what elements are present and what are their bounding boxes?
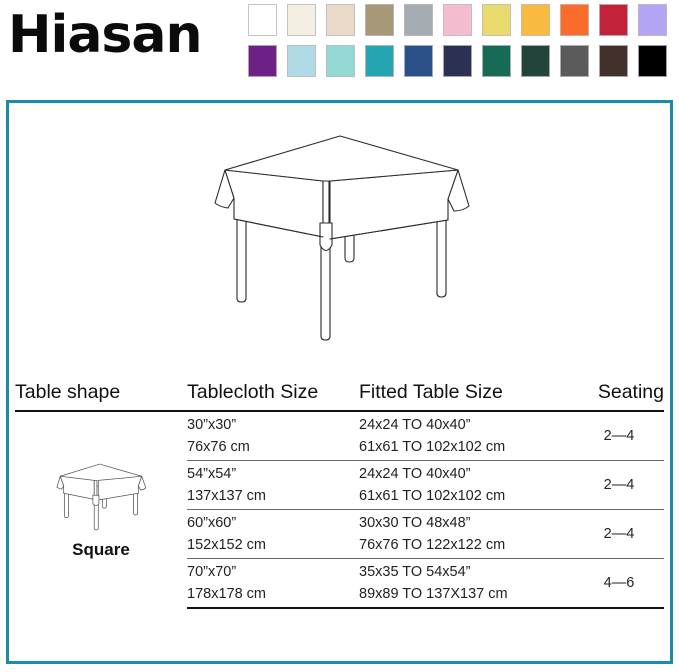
swatch-row-1 [248,4,672,36]
fitted-size-inches: 24x24 TO 40x40” [359,463,574,485]
swatch-ivory[interactable] [287,4,316,36]
table-row: Square30”x30”76x76 cm24x24 TO 40x40”61x6… [15,411,664,461]
swatch-orange[interactable] [560,4,589,36]
tablecloth-size-cell: 70”x70”178x178 cm [187,559,359,609]
tablecloth-size-cm: 137x137 cm [187,485,359,507]
swatch-royal-blue[interactable] [404,45,433,77]
tablecloth-size-cell: 60”x60”152x152 cm [187,510,359,559]
swatch-black[interactable] [638,45,667,77]
tablecloth-size-inches: 60”x60” [187,512,359,534]
swatch-lavender[interactable] [638,4,667,36]
seating-cell: 4—6 [574,559,664,609]
fitted-size-cm: 89x89 TO 137X137 cm [359,583,574,605]
swatch-pink[interactable] [443,4,472,36]
header-seating: Seating [574,381,664,411]
size-spec-table: Table shape Tablecloth Size Fitted Table… [15,381,664,609]
fitted-size-cm: 61x61 TO 102x102 cm [359,436,574,458]
swatch-hunter-green[interactable] [521,45,550,77]
tablecloth-size-inches: 30”x30” [187,414,359,436]
fitted-table-size-cell: 24x24 TO 40x40”61x61 TO 102x102 cm [359,411,574,461]
swatch-red[interactable] [599,4,628,36]
shape-cell: Square [15,411,187,608]
header-fitted-table-size: Fitted Table Size [359,381,574,411]
square-table-icon [46,460,156,536]
tablecloth-size-inches: 70”x70” [187,561,359,583]
swatch-teal[interactable] [365,45,394,77]
swatch-navy[interactable] [443,45,472,77]
fitted-table-size-cell: 30x30 TO 48x48”76x76 TO 122x122 cm [359,510,574,559]
fitted-size-inches: 30x30 TO 48x48” [359,512,574,534]
swatch-white[interactable] [248,4,277,36]
square-table-with-tablecloth-icon [190,123,490,363]
header-tablecloth-size: Tablecloth Size [187,381,359,411]
tablecloth-size-inches: 54”x54” [187,463,359,485]
fitted-table-size-cell: 24x24 TO 40x40”61x61 TO 102x102 cm [359,461,574,510]
fitted-size-inches: 24x24 TO 40x40” [359,414,574,436]
fitted-size-inches: 35x35 TO 54x54” [359,561,574,583]
swatch-brown[interactable] [599,45,628,77]
fitted-size-cm: 61x61 TO 102x102 cm [359,485,574,507]
swatch-aqua[interactable] [326,45,355,77]
header-table-shape: Table shape [15,381,187,411]
swatch-yellow[interactable] [482,4,511,36]
tablecloth-size-cell: 54”x54”137x137 cm [187,461,359,510]
tablecloth-size-cell: 30”x30”76x76 cm [187,411,359,461]
swatch-grey[interactable] [404,4,433,36]
swatch-charcoal[interactable] [560,45,589,77]
swatch-purple[interactable] [248,45,277,77]
shape-label: Square [15,540,187,560]
tablecloth-size-cm: 76x76 cm [187,436,359,458]
seating-cell: 2—4 [574,461,664,510]
fitted-size-cm: 76x76 TO 122x122 cm [359,534,574,556]
brand-logo: Hiasan [8,4,202,66]
swatch-row-2 [248,45,672,77]
seating-cell: 2—4 [574,411,664,461]
swatch-gold[interactable] [521,4,550,36]
color-swatch-grid [248,4,672,86]
seating-cell: 2—4 [574,510,664,559]
swatch-light-blue[interactable] [287,45,316,77]
product-info-frame: Table shape Tablecloth Size Fitted Table… [6,100,673,664]
swatch-emerald[interactable] [482,45,511,77]
table-header-row: Table shape Tablecloth Size Fitted Table… [15,381,664,411]
swatch-beige[interactable] [326,4,355,36]
hero-table-illustration [9,107,670,379]
brand-header: Hiasan [0,0,679,92]
tablecloth-size-cm: 178x178 cm [187,583,359,605]
swatch-taupe[interactable] [365,4,394,36]
fitted-table-size-cell: 35x35 TO 54x54”89x89 TO 137X137 cm [359,559,574,609]
tablecloth-size-cm: 152x152 cm [187,534,359,556]
